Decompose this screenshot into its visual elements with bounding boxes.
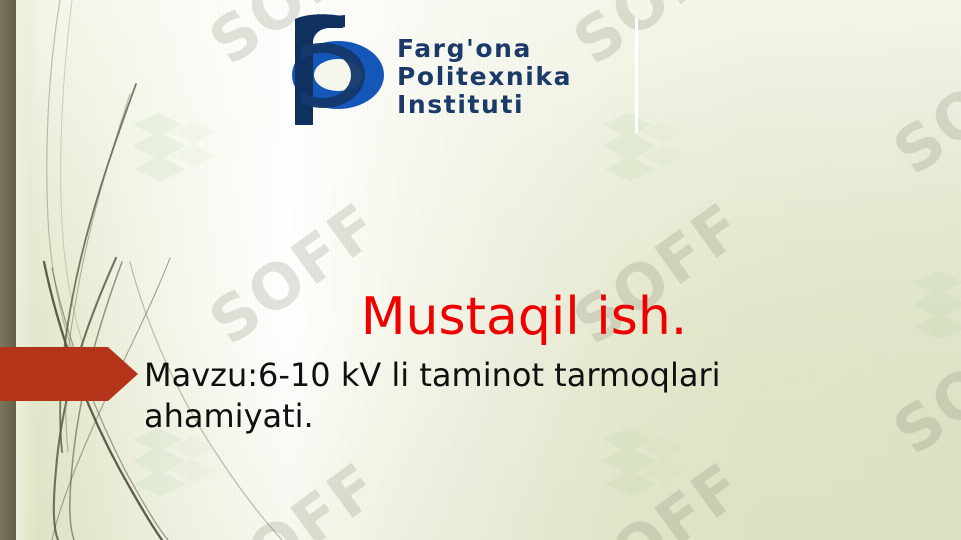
logo-line-1: Farg'ona (397, 35, 572, 63)
left-accent-bar (0, 0, 16, 540)
institute-logo-wordmark: Farg'ona Politexnika Instituti (397, 35, 572, 119)
institute-logo: Farg'ona Politexnika Instituti (279, 13, 659, 135)
logo-line-3: Instituti (397, 91, 572, 119)
fargona-politexnika-instituti-logo-icon (279, 13, 387, 131)
logo-line-2: Politexnika (397, 63, 572, 91)
logo-divider-rule (635, 18, 638, 133)
left-pale-band (16, 0, 38, 540)
right-arrow-bullet-icon (0, 341, 140, 407)
slide-title: Mustaqil ish. (144, 289, 904, 345)
slide-subtitle: Mavzu:6-10 kV li taminot tarmoqlari aham… (144, 355, 844, 437)
presentation-slide: SOFF SOFF SOFF SOFF SOFF SOFF SOFF SOFF … (0, 0, 961, 540)
grass-decoration (0, 0, 300, 540)
